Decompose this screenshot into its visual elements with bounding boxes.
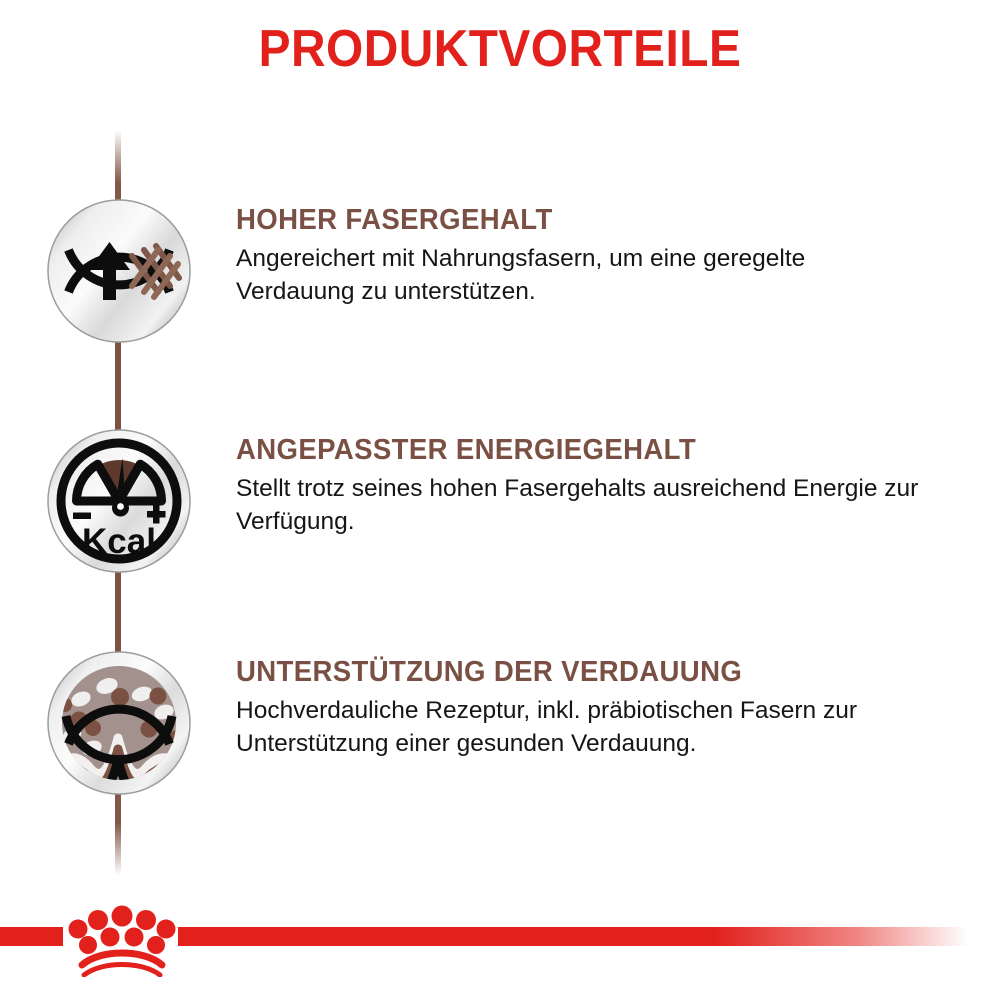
benefit-body: Angereichert mit Nahrungsfasern, um eine… [236, 243, 926, 308]
product-benefits-page: PRODUKTVORTEILE [0, 0, 1000, 1000]
footer-bar-right-segment [178, 927, 968, 946]
benefit-heading: HOHER FASERGEHALT [236, 204, 901, 237]
benefit-text-block: ANGEPASSTER ENERGIEGEHALT Stellt trotz s… [236, 434, 936, 538]
kcal-gauge-icon: Kcal [46, 428, 192, 574]
royal-canin-crown-icon [62, 905, 182, 977]
benefit-text-block: HOHER FASERGEHALT Angereichert mit Nahru… [236, 204, 936, 308]
benefit-heading: ANGEPASSTER ENERGIEGEHALT [236, 434, 901, 467]
benefit-body: Hochverdauliche Rezeptur, inkl. präbioti… [236, 695, 926, 760]
benefit-heading: UNTERSTÜTZUNG DER VERDAUUNG [236, 656, 901, 689]
benefit-item-digestive-support: UNTERSTÜTZUNG DER VERDAUUNG Hochverdauli… [0, 650, 1000, 810]
benefit-text-block: UNTERSTÜTZUNG DER VERDAUUNG Hochverdauli… [236, 656, 936, 760]
benefit-body: Stellt trotz seines hohen Fasergehalts a… [236, 473, 926, 538]
page-title: PRODUKTVORTEILE [40, 22, 960, 77]
digestive-wave-dots-icon [46, 650, 192, 796]
benefit-item-high-fibre: HOHER FASERGEHALT Angereichert mit Nahru… [0, 198, 1000, 358]
svg-text:Kcal: Kcal [82, 522, 156, 561]
footer-bar-left-segment [0, 927, 63, 946]
footer-brand-bar [0, 900, 1000, 1000]
benefit-item-adapted-energy: Kcal ANGEPASSTER ENERGIEGEHALT Stellt tr… [0, 428, 1000, 588]
fiber-arrow-mesh-icon [46, 198, 192, 344]
